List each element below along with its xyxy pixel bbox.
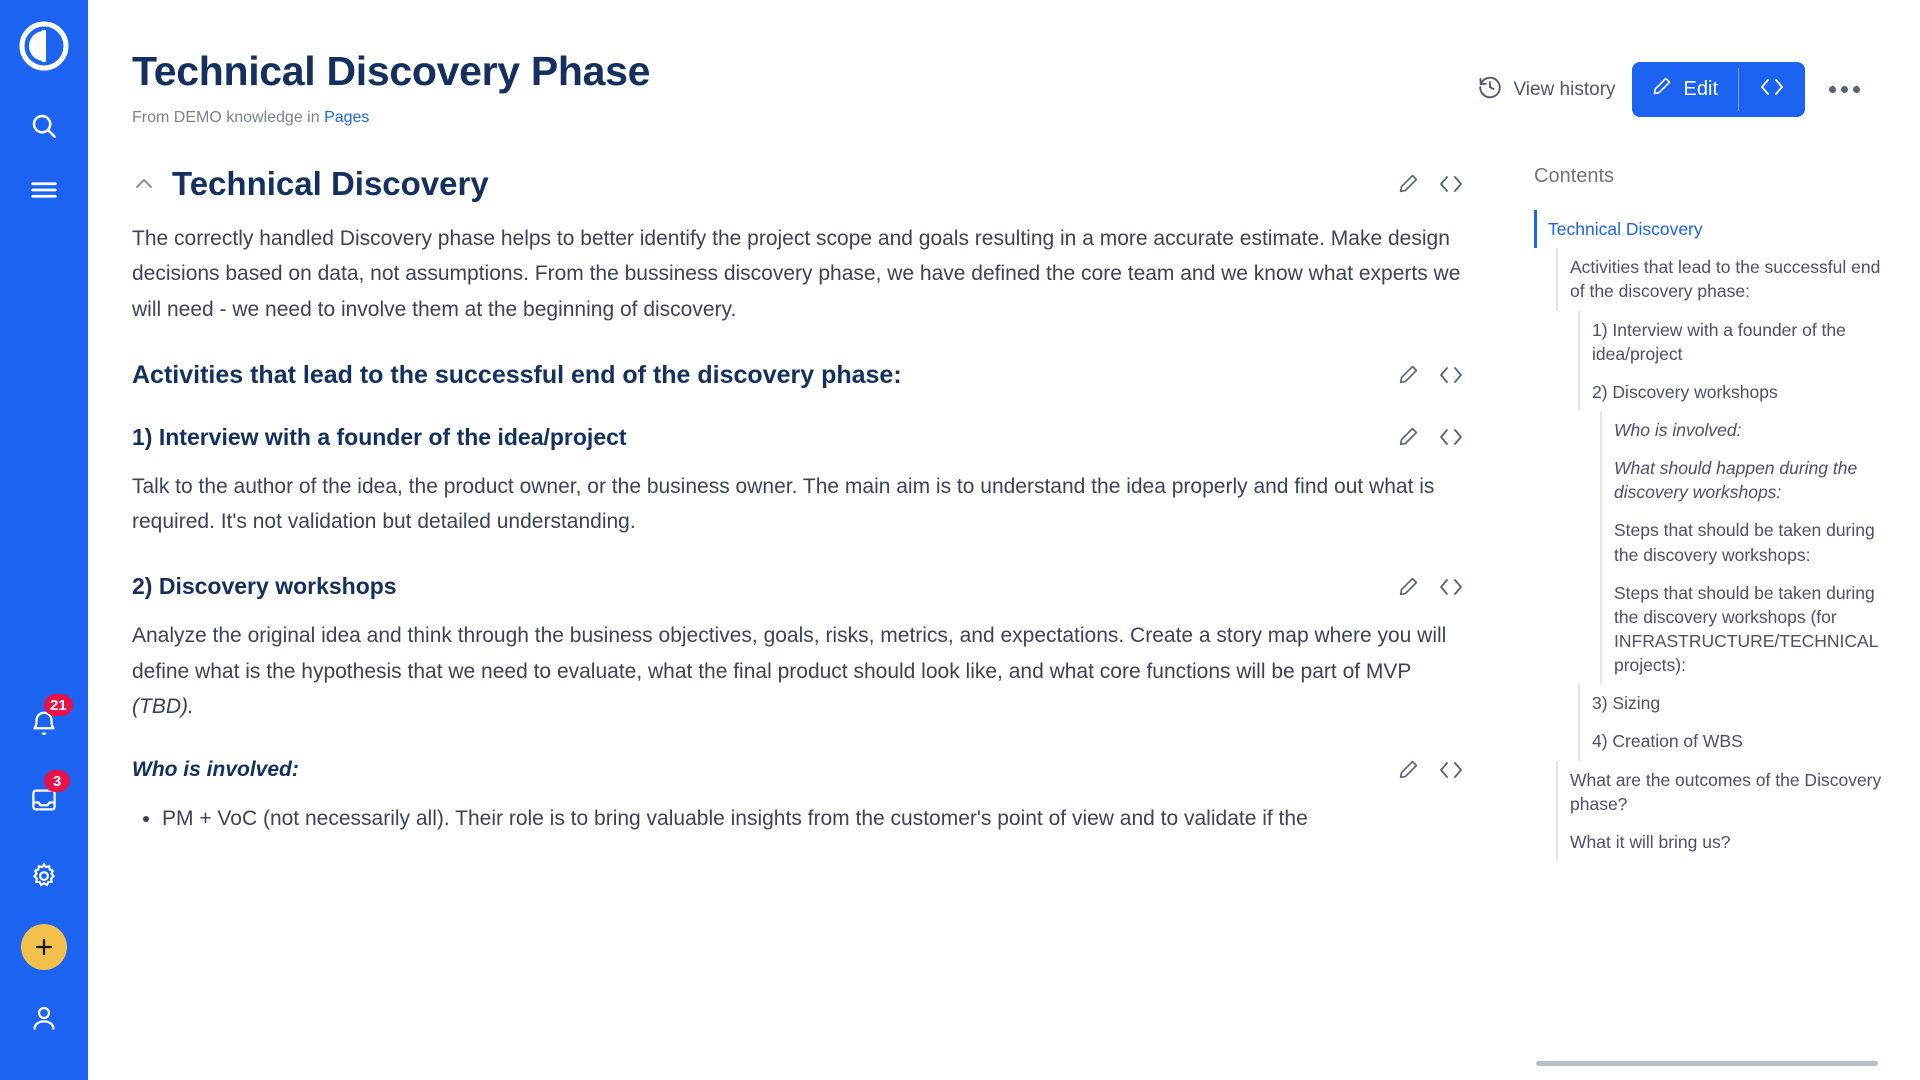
section-tools	[1376, 575, 1464, 599]
toc-item[interactable]: What are the outcomes of the Discovery p…	[1556, 761, 1894, 823]
gear-icon[interactable]	[16, 848, 72, 904]
edit-label: Edit	[1684, 78, 1718, 101]
section-tools	[1376, 172, 1464, 196]
breadcrumb-link-pages[interactable]: Pages	[324, 109, 369, 126]
section-heading-workshops: 2) Discovery workshops	[132, 573, 1464, 600]
view-history-label: View history	[1513, 79, 1615, 101]
app-root: 21 3	[0, 0, 1920, 1080]
chevron-up-icon[interactable]	[132, 172, 156, 196]
view-source-button[interactable]	[1739, 62, 1805, 117]
toc-list: Technical DiscoveryActivities that lead …	[1534, 210, 1894, 861]
heading-text: 2) Discovery workshops	[132, 573, 1376, 600]
toc-item[interactable]: Steps that should be taken during the di…	[1600, 574, 1894, 685]
pencil-icon[interactable]	[1396, 575, 1420, 599]
code-brackets-icon[interactable]	[1438, 576, 1464, 598]
toc-item[interactable]: 4) Creation of WBS	[1578, 722, 1894, 760]
pencil-icon	[1650, 75, 1673, 104]
edit-button[interactable]: Edit	[1632, 62, 1738, 117]
heading-text: 1) Interview with a founder of the idea/…	[132, 424, 1376, 451]
title-block: Technical Discovery Phase From DEMO know…	[132, 48, 1477, 127]
toc-item[interactable]: What should happen during the discovery …	[1600, 449, 1894, 511]
bell-badge: 21	[44, 694, 73, 716]
toc-item[interactable]: Steps that should be taken during the di…	[1600, 511, 1894, 573]
app-logo-icon[interactable]	[16, 18, 72, 74]
rail-bottom-group: 21 3	[16, 696, 72, 1046]
pencil-icon[interactable]	[1396, 363, 1420, 387]
section-heading-technical-discovery: Technical Discovery	[132, 165, 1464, 203]
search-icon[interactable]	[16, 98, 72, 154]
table-of-contents: Contents Technical DiscoveryActivities t…	[1508, 127, 1920, 1080]
user-icon[interactable]	[16, 990, 72, 1046]
paragraph: Talk to the author of the idea, the prod…	[132, 469, 1464, 540]
section-tools	[1376, 758, 1464, 782]
edit-button-group: Edit	[1632, 62, 1805, 117]
page-header: Technical Discovery Phase From DEMO know…	[88, 0, 1920, 127]
header-actions: View history Edit	[1477, 48, 1868, 117]
document-content: Technical Discovery The correctly handle…	[88, 127, 1508, 1080]
paragraph: The correctly handled Discovery phase he…	[132, 221, 1464, 327]
bullet-list: PM + VoC (not necessarily all). Their ro…	[132, 802, 1464, 836]
heading-text: Technical Discovery	[172, 165, 489, 203]
inbox-badge: 3	[44, 770, 70, 792]
breadcrumb-prefix: From DEMO knowledge in	[132, 109, 324, 126]
section-tools	[1376, 425, 1464, 449]
section-heading-who-is-involved: Who is involved:	[132, 758, 1464, 782]
section-tools	[1376, 363, 1464, 387]
left-nav-rail: 21 3	[0, 0, 88, 1080]
toc-item[interactable]: 2) Discovery workshops	[1578, 373, 1894, 411]
inbox-icon[interactable]: 3	[16, 772, 72, 828]
bell-icon[interactable]: 21	[16, 696, 72, 752]
section-heading-interview: 1) Interview with a founder of the idea/…	[132, 424, 1464, 451]
toc-item[interactable]: 1) Interview with a founder of the idea/…	[1578, 311, 1894, 373]
more-horizontal-icon[interactable]	[1821, 76, 1868, 103]
pencil-icon[interactable]	[1396, 758, 1420, 782]
view-history-button[interactable]: View history	[1477, 74, 1615, 106]
breadcrumb: From DEMO knowledge in Pages	[132, 109, 1477, 127]
menu-icon[interactable]	[16, 162, 72, 218]
pencil-icon[interactable]	[1396, 425, 1420, 449]
rail-top-group	[16, 98, 72, 218]
heading-text: Who is involved:	[132, 758, 1376, 782]
code-brackets-icon[interactable]	[1438, 173, 1464, 195]
code-brackets-icon	[1759, 76, 1785, 103]
toc-item[interactable]: What it will bring us?	[1556, 823, 1894, 861]
toc-item[interactable]: Technical Discovery	[1534, 210, 1894, 248]
page-title: Technical Discovery Phase	[132, 48, 1477, 95]
code-brackets-icon[interactable]	[1438, 364, 1464, 386]
paragraph: Analyze the original idea and think thro…	[132, 618, 1464, 724]
body-area: Technical Discovery The correctly handle…	[88, 127, 1920, 1080]
heading-text: Activities that lead to the successful e…	[132, 361, 1376, 390]
toc-item[interactable]: 3) Sizing	[1578, 684, 1894, 722]
pencil-icon[interactable]	[1396, 172, 1420, 196]
main-area: Technical Discovery Phase From DEMO know…	[88, 0, 1920, 1080]
toc-item[interactable]: Activities that lead to the successful e…	[1556, 248, 1894, 310]
history-clock-icon	[1477, 74, 1503, 106]
contents-title: Contents	[1534, 165, 1894, 188]
plus-icon[interactable]	[21, 924, 67, 970]
list-item: PM + VoC (not necessarily all). Their ro…	[162, 802, 1464, 836]
section-heading-activities: Activities that lead to the successful e…	[132, 361, 1464, 390]
code-brackets-icon[interactable]	[1438, 426, 1464, 448]
toc-horizontal-scrollbar[interactable]	[1536, 1061, 1878, 1066]
toc-item[interactable]: Who is involved:	[1600, 411, 1894, 449]
code-brackets-icon[interactable]	[1438, 759, 1464, 781]
